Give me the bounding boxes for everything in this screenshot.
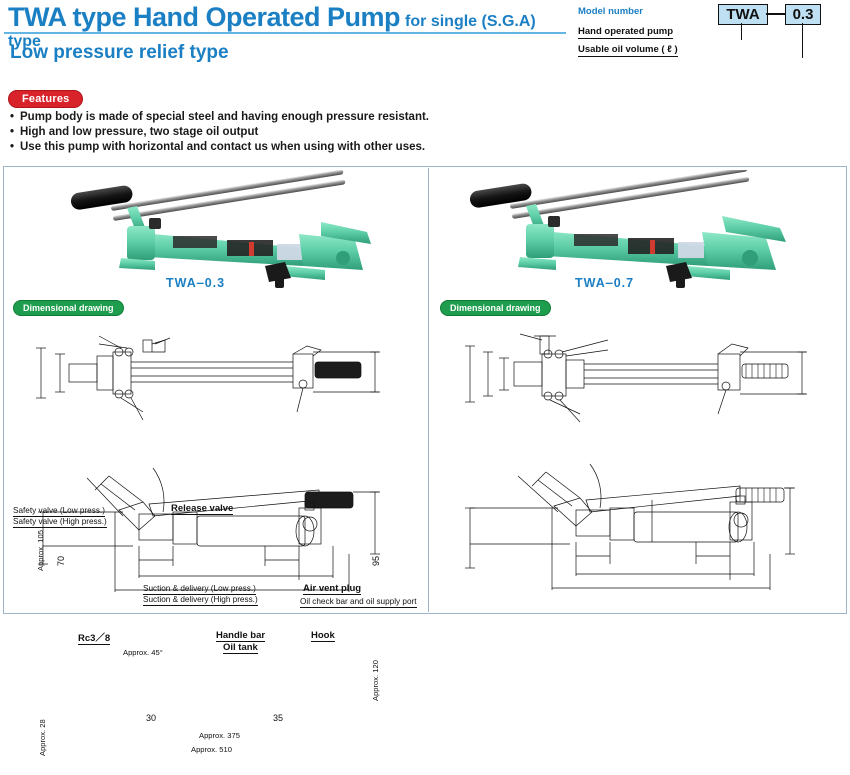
features-list: Pump body is made of special steel and h… bbox=[10, 110, 530, 155]
features-badge: Features bbox=[8, 90, 83, 108]
technical-drawing-bottom-right bbox=[430, 454, 847, 609]
model-number-volume-box: 0.3 bbox=[785, 4, 821, 25]
technical-drawing-bottom-left bbox=[3, 454, 428, 609]
model-number-series-box: TWA bbox=[718, 4, 768, 25]
dim-35-left: 35 bbox=[273, 713, 283, 723]
panel-twa-03: TWA‒0.3 Dimensional drawing bbox=[3, 166, 428, 614]
technical-drawing-top-right bbox=[430, 326, 847, 436]
dim-approx-375-left: Approx. 375 bbox=[199, 731, 240, 740]
dimensional-drawing-badge-left: Dimensional drawing bbox=[13, 300, 124, 316]
page-header: TWA type Hand Operated Pumpfor single (S… bbox=[0, 0, 850, 160]
model-number-label: Model number bbox=[578, 6, 643, 17]
page-subtitle: Low pressure relief type bbox=[10, 42, 229, 64]
list-item: Pump body is made of special steel and h… bbox=[10, 110, 530, 125]
product-caption-left: TWA‒0.3 bbox=[166, 276, 225, 290]
pump-photo-twa-07 bbox=[430, 170, 847, 300]
dim-approx-45-left: Approx. 45° bbox=[123, 648, 163, 657]
callout-rc38-left: Rc3／8 bbox=[78, 634, 110, 645]
title-underline bbox=[4, 32, 566, 34]
dim-30-left: 30 bbox=[146, 713, 156, 723]
model-number-diagram: Model number Hand operated pump Usable o… bbox=[578, 4, 846, 70]
list-item: Use this pump with horizontal and contac… bbox=[10, 140, 530, 155]
dim-approx-510-left: Approx. 510 bbox=[191, 745, 232, 754]
list-item: High and low pressure, two stage oil out… bbox=[10, 125, 530, 140]
model-number-dash bbox=[766, 13, 785, 15]
callout-handle-bar-left: Handle bar bbox=[216, 631, 265, 642]
callout-oil-tank-left: Oil tank bbox=[223, 643, 258, 654]
leader-line-volume bbox=[802, 23, 803, 58]
callout-hook-left: Hook bbox=[311, 631, 335, 642]
page-title: TWA type Hand Operated Pump bbox=[8, 2, 400, 32]
dim-approx-28-left: Approx. 28 bbox=[38, 719, 47, 756]
model-number-volume-label: Usable oil volume ( ℓ ) bbox=[578, 44, 678, 57]
model-number-pump-label: Hand operated pump bbox=[578, 26, 673, 39]
leader-line-pump bbox=[741, 23, 742, 40]
dimensional-drawing-badge-right: Dimensional drawing bbox=[440, 300, 551, 316]
product-caption-right: TWA‒0.7 bbox=[575, 276, 634, 290]
panel-twa-07: TWA‒0.7 Dimensional drawing bbox=[430, 166, 847, 614]
dim-approx-120-left: Approx. 120 bbox=[371, 660, 380, 701]
technical-drawing-top-left bbox=[3, 326, 428, 436]
